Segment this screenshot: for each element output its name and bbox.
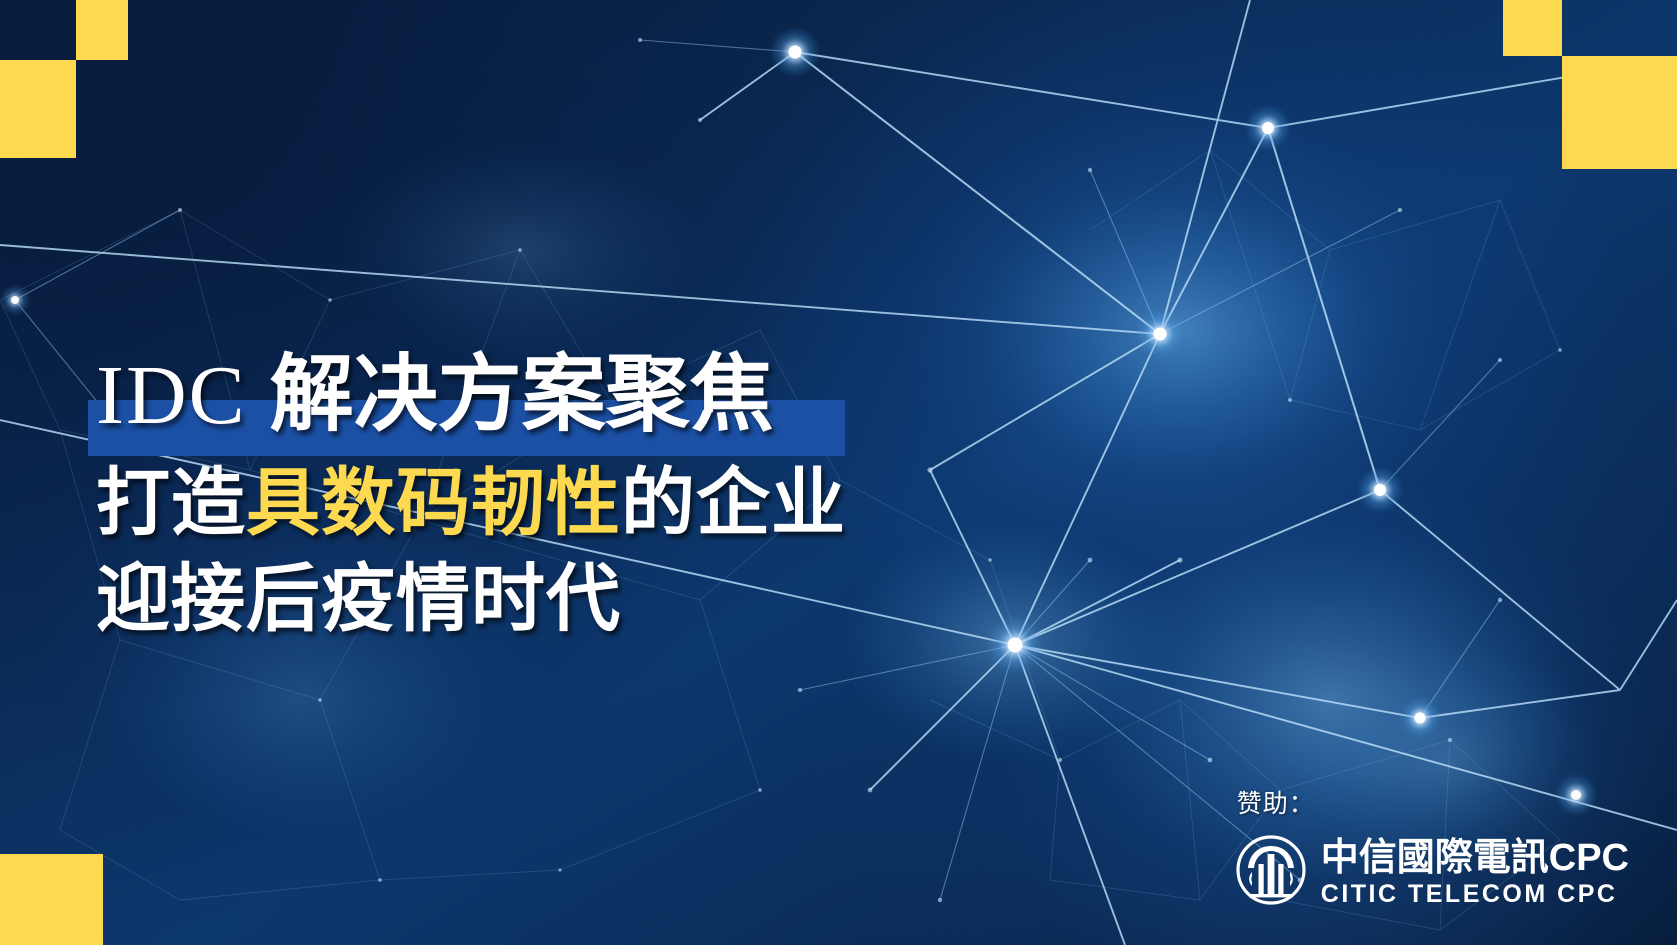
corner-block-top-right-lower — [1562, 56, 1677, 169]
headline-group: IDC 解决方案聚焦 打造具数码韧性的企业 迎接后疫情时代 — [88, 340, 968, 646]
sponsor-name-en: CITIC TELECOM CPC — [1321, 880, 1629, 908]
corner-block-top-right-upper — [1503, 0, 1562, 56]
sponsor-name-cn: 中信國際電訊CPC — [1321, 837, 1629, 879]
corner-block-bottom-left — [0, 854, 103, 945]
corner-block-top-left-upper — [76, 0, 128, 60]
subtitle-line-1-post: 的企业 — [621, 461, 846, 544]
subtitle-line-2: 迎接后疫情时代 — [88, 552, 968, 646]
slide-canvas: IDC 解决方案聚焦 打造具数码韧性的企业 迎接后疫情时代 赞助： — [0, 0, 1677, 945]
sponsor-logo-wordmark: 中信國際電訊CPC CITIC TELECOM CPC — [1321, 837, 1629, 908]
title-row: IDC 解决方案聚焦 — [88, 340, 968, 448]
citic-pillar-icon — [1235, 834, 1307, 911]
subtitle-line-1-accent: 具数码韧性 — [246, 461, 621, 544]
subtitle-line-1-pre: 打造 — [96, 461, 246, 544]
sponsor-label: 赞助： — [1237, 784, 1629, 820]
page-title: IDC 解决方案聚焦 — [88, 340, 968, 450]
title-prefix: IDC — [96, 349, 247, 442]
corner-block-top-left-lower — [0, 60, 76, 158]
subtitle-line-1: 打造具数码韧性的企业 — [88, 456, 968, 550]
title-cjk: 解决方案聚焦 — [270, 347, 774, 441]
sponsor-logo: 中信國際電訊CPC CITIC TELECOM CPC — [1235, 834, 1629, 911]
sponsor-block: 赞助： 中信國際電訊CPC CITIC TELECOM CPC — [1235, 784, 1629, 911]
